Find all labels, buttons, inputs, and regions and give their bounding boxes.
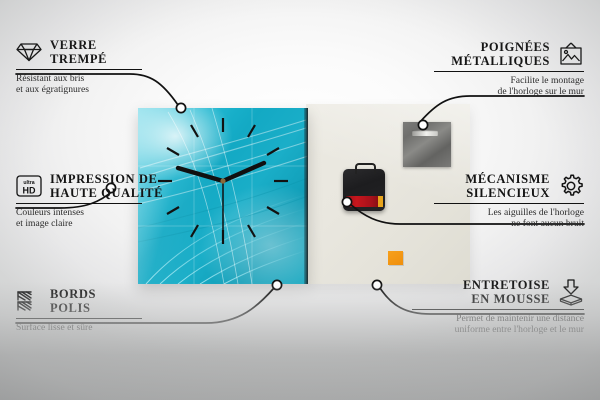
feature-mecanisme-silencieux: MÉCANISME SILENCIEUX Les aiguilles de l'…	[434, 172, 584, 230]
feature-title-line1: ENTRETOISE	[463, 278, 550, 292]
svg-text:HD: HD	[23, 186, 36, 196]
picture-hanger-icon	[558, 42, 584, 66]
feature-bords-polis: BORDS POLIS Surface lisse et sûre	[16, 287, 142, 333]
feature-verre-trempe: VERRE TREMPÉ Résistant aux bris et aux é…	[16, 38, 142, 96]
diamond-icon	[16, 42, 42, 62]
feature-title-line2: MÉTALLIQUES	[451, 54, 550, 68]
feature-title-line2: HAUTE QUALITÉ	[50, 186, 163, 200]
feature-title-line1: IMPRESSION DE	[50, 172, 163, 186]
connector-endpoint-entretoise	[372, 280, 381, 289]
feature-title-line1: BORDS	[50, 287, 96, 301]
feature-subtitle: Les aiguilles de l'horloge ne font aucun…	[434, 207, 584, 230]
feature-title-line2: TREMPÉ	[50, 52, 107, 66]
feature-title-line2: POLIS	[50, 301, 96, 315]
connector-endpoint-mecanisme	[342, 197, 351, 206]
feature-subtitle: Facilite le montage de l'horloge sur le …	[434, 75, 584, 98]
connector-endpoint-poignees	[418, 120, 427, 129]
feature-poignees-metalliques: POIGNÉES MÉTALLIQUES Facilite le montage…	[434, 40, 584, 98]
feature-title-line1: POIGNÉES	[451, 40, 550, 54]
gear-icon	[558, 173, 584, 199]
feature-title-line2: EN MOUSSE	[463, 292, 550, 306]
feature-title-line2: SILENCIEUX	[465, 186, 550, 200]
connector-endpoint-verre-trempe	[176, 103, 185, 112]
feature-subtitle: Permet de maintenir une distance uniform…	[412, 313, 584, 336]
connector-endpoint-bords-polis	[272, 280, 281, 289]
feature-divider	[434, 71, 584, 72]
feature-subtitle: Surface lisse et sûre	[16, 322, 142, 333]
feature-divider	[434, 203, 584, 204]
polished-edges-icon	[16, 290, 42, 312]
feature-subtitle: Couleurs intenses et image claire	[16, 207, 142, 230]
feature-divider	[16, 69, 142, 70]
feature-divider	[16, 203, 142, 204]
feature-subtitle: Résistant aux bris et aux égratignures	[16, 73, 142, 96]
feature-divider	[412, 309, 584, 310]
ultra-hd-icon: ultra HD	[16, 175, 42, 197]
feature-impression-haute-qualite: ultra HD IMPRESSION DE HAUTE QUALITÉ Cou…	[16, 172, 142, 230]
feature-title-line1: VERRE	[50, 38, 107, 52]
infographic-canvas: VERRE TREMPÉ Résistant aux bris et aux é…	[0, 0, 600, 400]
feature-divider	[16, 318, 142, 319]
foam-spacer-icon	[558, 279, 584, 305]
feature-entretoise-en-mousse: ENTRETOISE EN MOUSSE Permet de maintenir…	[412, 278, 584, 336]
feature-title-line1: MÉCANISME	[465, 172, 550, 186]
